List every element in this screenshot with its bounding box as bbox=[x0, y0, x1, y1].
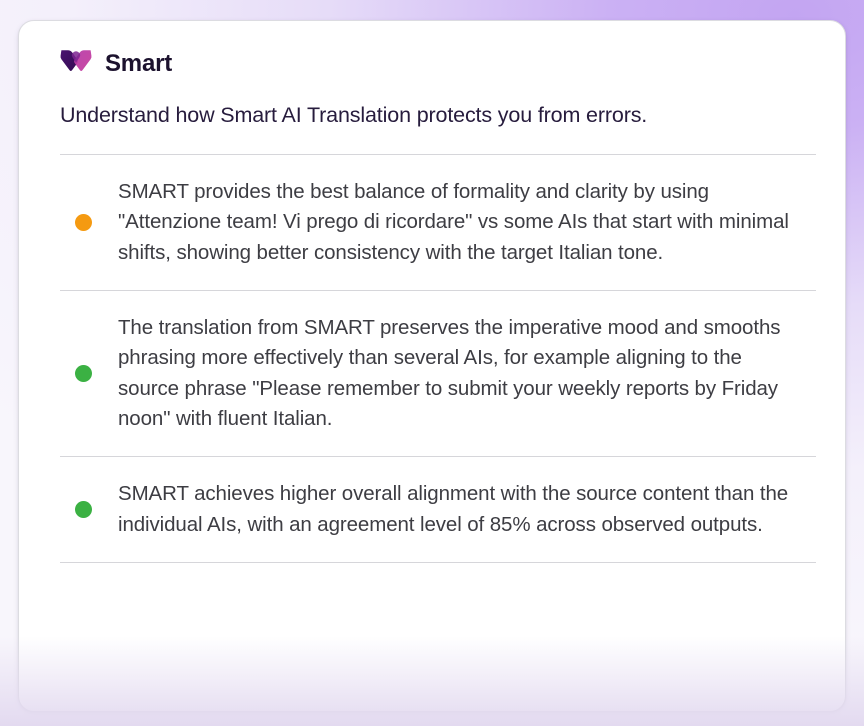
status-dot-green-icon bbox=[75, 365, 92, 382]
card-content: Smart Understand how Smart AI Translatio… bbox=[19, 21, 845, 563]
insight-row: SMART provides the best balance of forma… bbox=[43, 155, 821, 290]
insight-text: The translation from SMART preserves the… bbox=[118, 313, 816, 434]
page-headline: Understand how Smart AI Translation prot… bbox=[43, 102, 821, 129]
page-backdrop: Smart Understand how Smart AI Translatio… bbox=[0, 0, 864, 726]
divider-insight-3 bbox=[60, 562, 816, 563]
status-dot-green-icon bbox=[75, 501, 92, 518]
status-dot-cell bbox=[60, 214, 118, 231]
insight-row: The translation from SMART preserves the… bbox=[43, 291, 821, 456]
status-dot-cell bbox=[60, 501, 118, 518]
insight-text: SMART achieves higher overall alignment … bbox=[118, 479, 816, 540]
smart-insights-card: Smart Understand how Smart AI Translatio… bbox=[18, 20, 846, 712]
status-dot-cell bbox=[60, 365, 118, 382]
status-dot-orange-icon bbox=[75, 214, 92, 231]
brand-name: Smart bbox=[105, 52, 172, 76]
insight-text: SMART provides the best balance of forma… bbox=[118, 177, 816, 268]
smart-logo-icon bbox=[60, 49, 92, 79]
brand-header: Smart bbox=[43, 43, 821, 85]
insight-row: SMART achieves higher overall alignment … bbox=[43, 457, 821, 562]
